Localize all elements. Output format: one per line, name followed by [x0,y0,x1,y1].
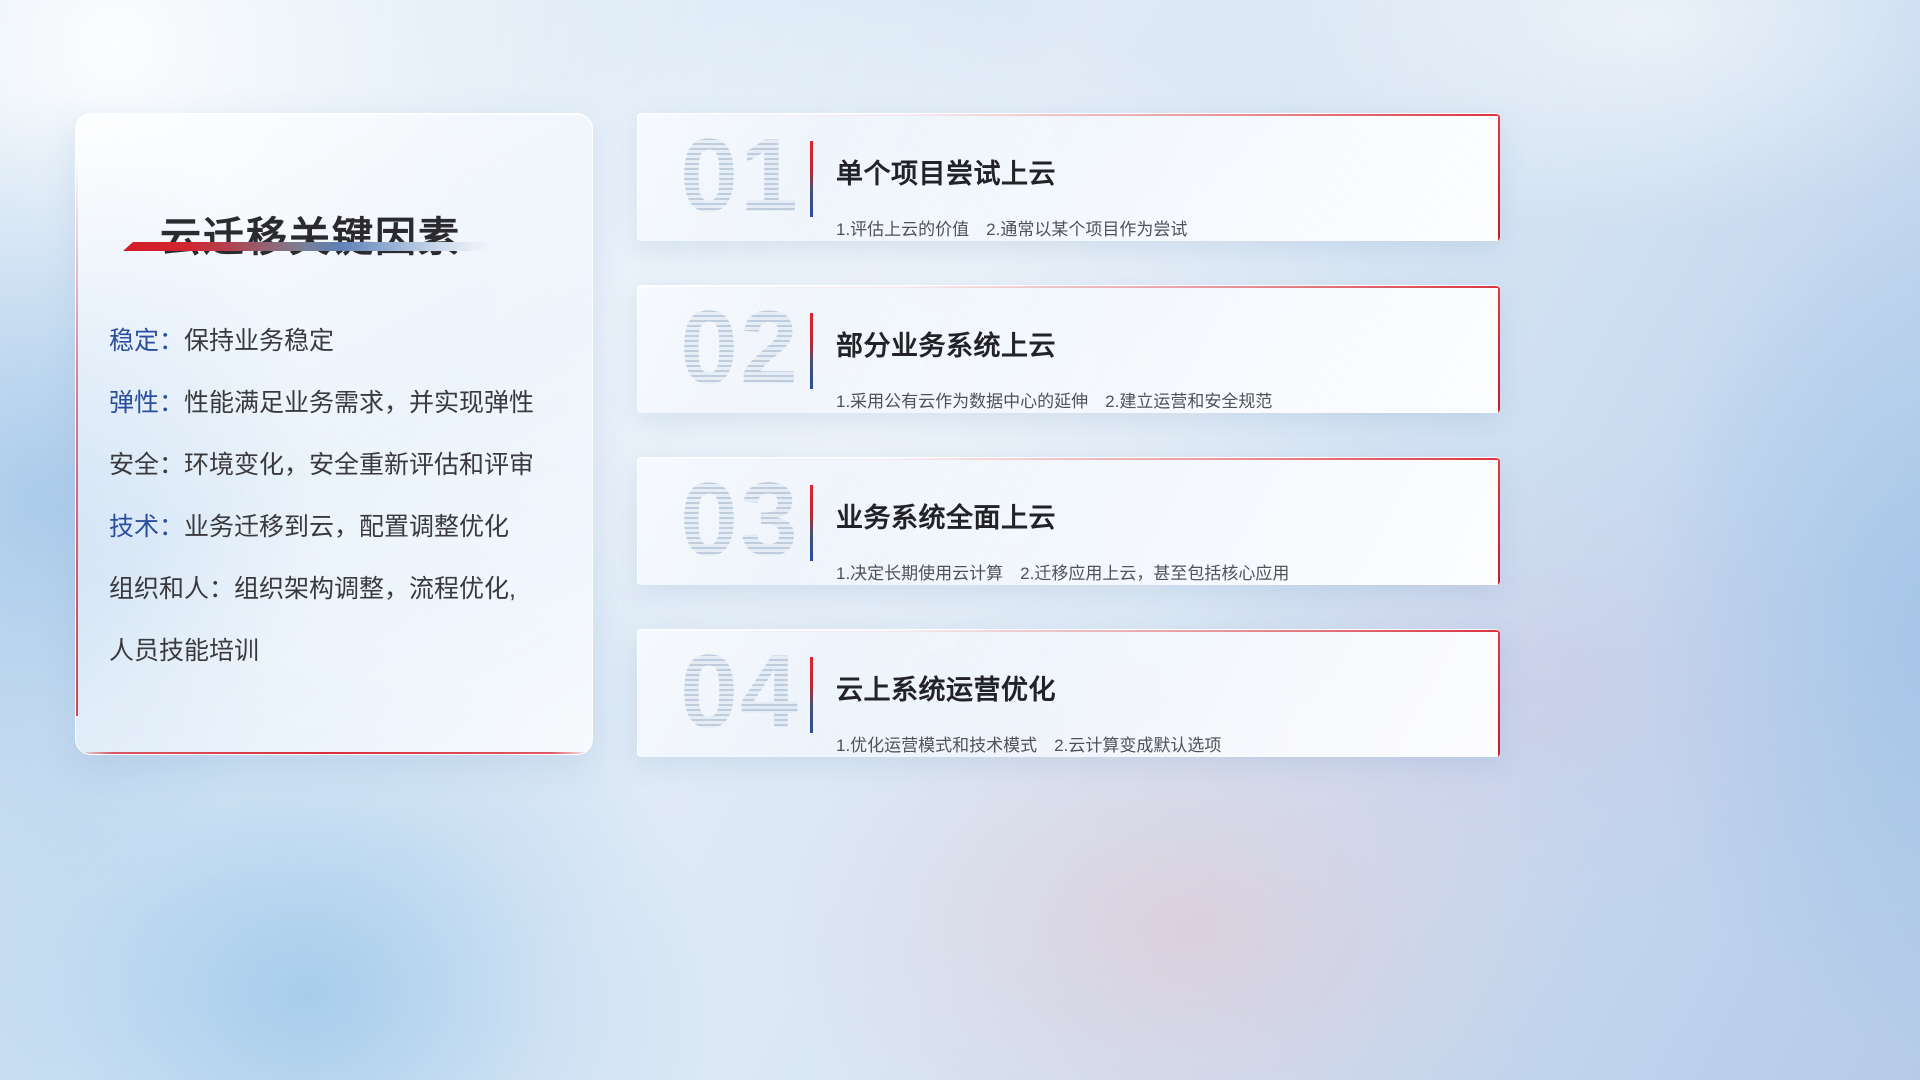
factor-text: 性能满足业务需求，并实现弹性 [184,389,534,417]
step-content: 部分业务系统上云 1.采用公有云作为数据中心的延伸 2.建立运营和安全规范 [836,304,1476,413]
step-number-shadow: 04 [665,629,815,757]
key-factors-panel: 云迁移关键因素 稳定：保持业务稳定 弹性：性能满足业务需求，并实现弹性 安全：环… [75,113,593,755]
list-item: 技术：业务迁移到云，配置调整优化 [109,496,566,558]
step-description: 1.决定长期使用云计算 2.迁移应用上云，甚至包括核心应用 [836,561,1476,585]
step-number-watermark: 03 [665,457,815,585]
step-card-02[interactable]: 02 02 部分业务系统上云 1.采用公有云作为数据中心的延伸 2.建立运营和安… [637,285,1500,413]
factor-label: 弹性： [109,389,184,417]
step-card-04[interactable]: 04 04 云上系统运营优化 1.优化运营模式和技术模式 2.云计算变成默认选项 [637,629,1500,757]
page-title: 云迁移关键因素 [160,203,461,263]
step-number-shadow: 02 [665,285,815,413]
step-number-shadow: 03 [665,457,815,585]
step-number-shadow: 01 [665,113,815,241]
step-content: 业务系统全面上云 1.决定长期使用云计算 2.迁移应用上云，甚至包括核心应用 [836,476,1476,585]
factor-text: 环境变化，安全重新评估和评审 [184,451,534,479]
step-title: 部分业务系统上云 [836,326,1476,366]
factor-text: 业务迁移到云，配置调整优化 [184,513,509,541]
factor-text: 人员技能培训 [109,637,259,665]
factor-label: 稳定： [109,327,184,355]
slide-canvas: 云迁移关键因素 稳定：保持业务稳定 弹性：性能满足业务需求，并实现弹性 安全：环… [0,0,1920,1080]
step-accent-divider [810,313,813,389]
step-description: 1.采用公有云作为数据中心的延伸 2.建立运营和安全规范 [836,389,1476,413]
factor-label: 技术： [109,513,184,541]
step-number-watermark: 01 [665,113,815,241]
step-title: 业务系统全面上云 [836,498,1476,538]
factor-text: 组织架构调整，流程优化, [234,575,516,603]
step-accent-divider [810,141,813,217]
step-description: 1.评估上云的价值 2.通常以某个项目作为尝试 [836,217,1476,241]
factor-label: 组织和人： [109,575,234,603]
title-underline-gradient [123,242,495,251]
key-factors-list: 稳定：保持业务稳定 弹性：性能满足业务需求，并实现弹性 安全：环境变化，安全重新… [109,310,566,682]
step-content: 云上系统运营优化 1.优化运营模式和技术模式 2.云计算变成默认选项 [836,648,1476,757]
list-item: 弹性：性能满足业务需求，并实现弹性 [109,372,566,434]
step-card-01[interactable]: 01 01 单个项目尝试上云 1.评估上云的价值 2.通常以某个项目作为尝试 [637,113,1500,241]
step-accent-divider [810,485,813,561]
step-number-watermark: 04 [665,629,815,757]
step-description: 1.优化运营模式和技术模式 2.云计算变成默认选项 [836,733,1476,757]
step-accent-divider [810,657,813,733]
list-item: 稳定：保持业务稳定 [109,310,566,372]
step-number-watermark: 02 [665,285,815,413]
factor-text: 保持业务稳定 [184,327,334,355]
factor-label: 安全： [109,451,184,479]
list-item-continuation: 人员技能培训 [109,620,566,682]
step-content: 单个项目尝试上云 1.评估上云的价值 2.通常以某个项目作为尝试 [836,132,1476,241]
step-card-03[interactable]: 03 03 业务系统全面上云 1.决定长期使用云计算 2.迁移应用上云，甚至包括… [637,457,1500,585]
step-title: 单个项目尝试上云 [836,154,1476,194]
list-item: 组织和人：组织架构调整，流程优化, [109,558,566,620]
step-title: 云上系统运营优化 [836,670,1476,710]
list-item: 安全：环境变化，安全重新评估和评审 [109,434,566,496]
